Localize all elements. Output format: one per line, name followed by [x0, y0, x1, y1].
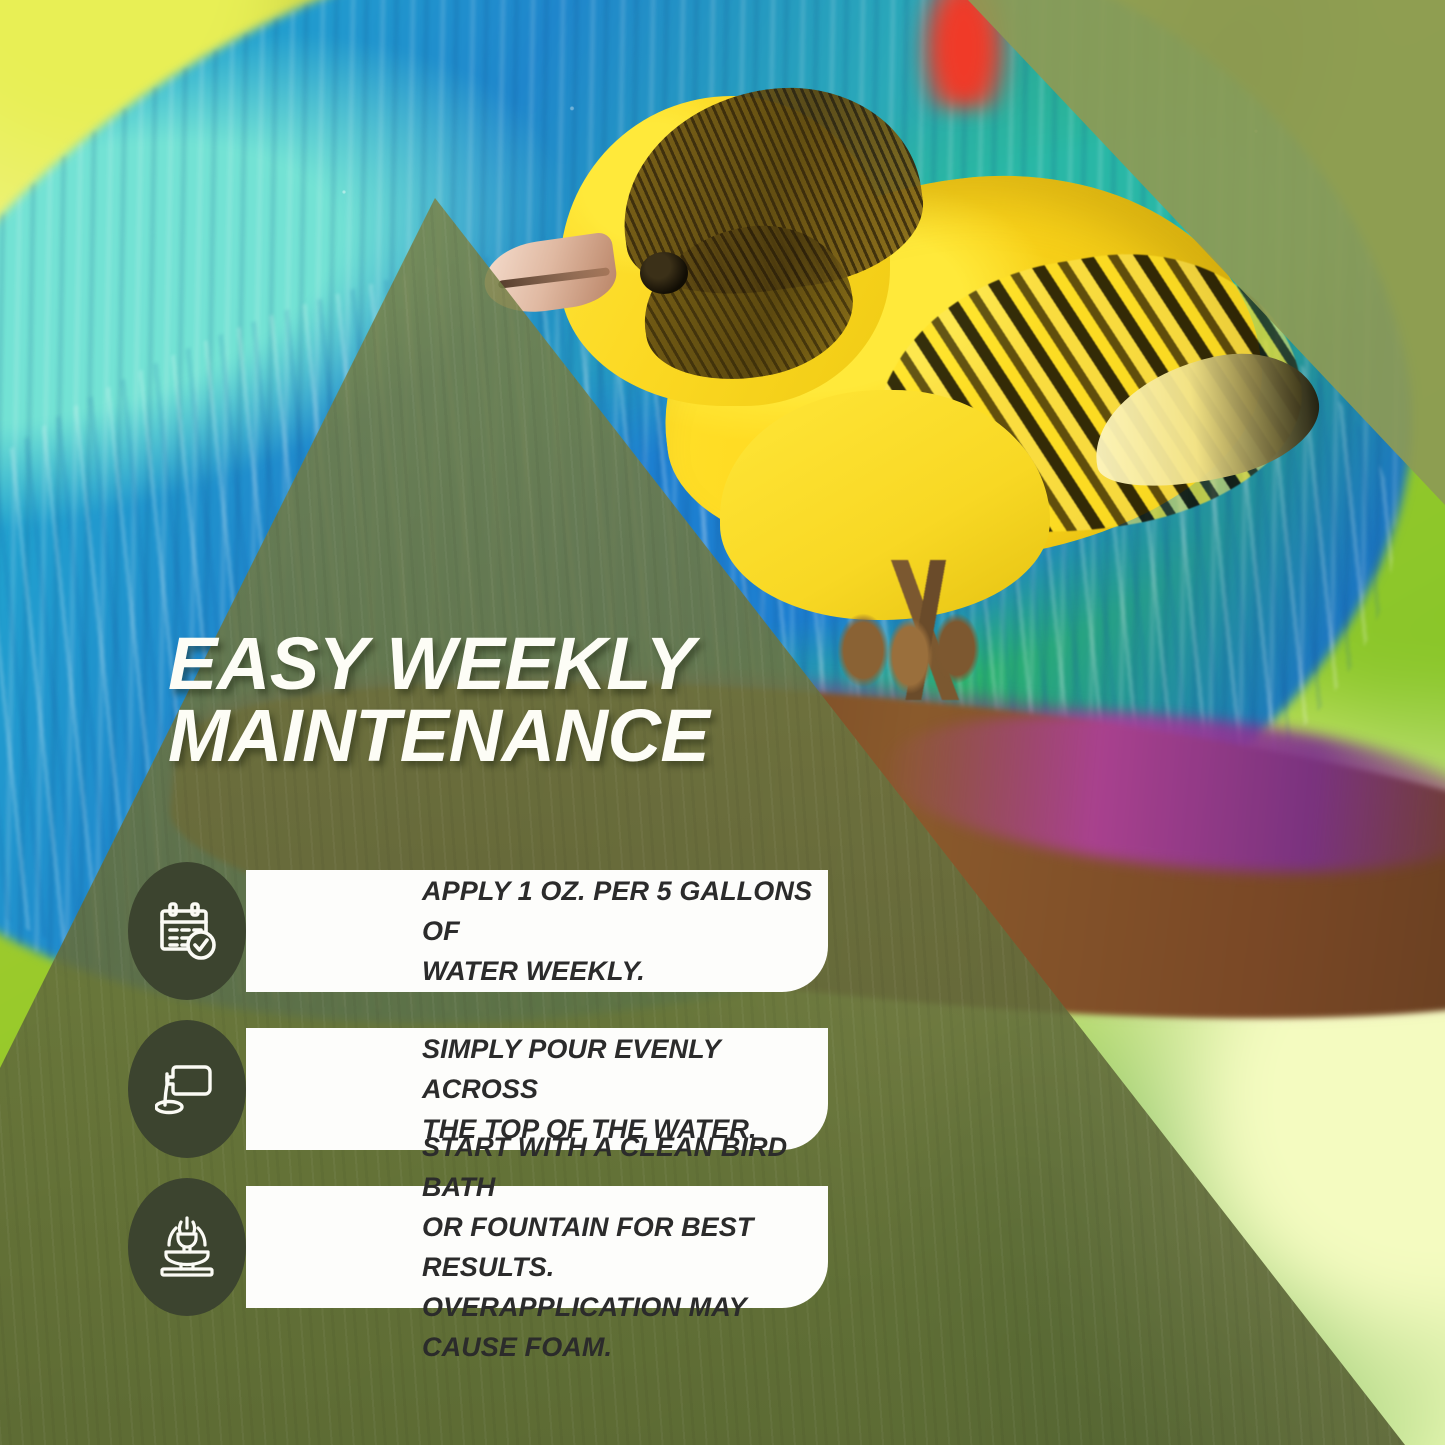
instruction-card: APPLY 1 OZ. PER 5 GALLONS OF WATER WEEKL…: [246, 870, 828, 992]
page-title: EASY WEEKLY MAINTENANCE: [168, 628, 868, 772]
list-item: START WITH A CLEAN BIRD BATH OR FOUNTAIN…: [128, 1186, 848, 1308]
fountain-icon: [128, 1178, 246, 1316]
pouring-bottle-icon: [128, 1020, 246, 1158]
instruction-card: START WITH A CLEAN BIRD BATH OR FOUNTAIN…: [246, 1186, 828, 1308]
instruction-list: APPLY 1 OZ. PER 5 GALLONS OF WATER WEEKL…: [128, 870, 848, 1308]
poster-content: EASY WEEKLY MAINTENANCE APPLY 1 OZ. PER …: [0, 0, 1445, 1445]
list-item: APPLY 1 OZ. PER 5 GALLONS OF WATER WEEKL…: [128, 870, 848, 992]
product-infographic-poster: EASY WEEKLY MAINTENANCE APPLY 1 OZ. PER …: [0, 0, 1445, 1445]
instruction-text: START WITH A CLEAN BIRD BATH OR FOUNTAIN…: [422, 1127, 828, 1367]
calendar-check-icon: [128, 862, 246, 1000]
instruction-text: APPLY 1 OZ. PER 5 GALLONS OF WATER WEEKL…: [422, 871, 828, 991]
